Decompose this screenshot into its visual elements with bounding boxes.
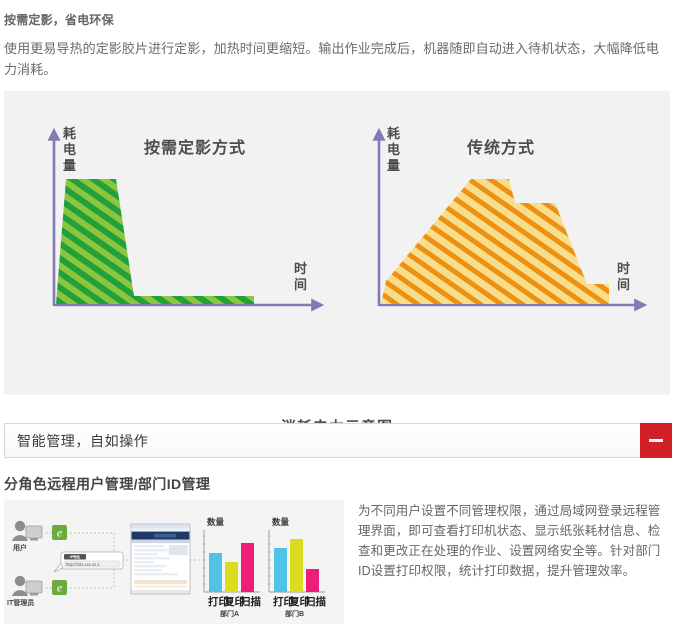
- collapsible-section-bar[interactable]: 智能管理，自如操作: [4, 423, 672, 458]
- dept-a-cat-scan: 扫描: [240, 595, 261, 608]
- svg-text:耗: 耗: [63, 126, 76, 141]
- intro-title: 按需定影，省电环保: [4, 12, 668, 28]
- svg-text:时: 时: [617, 261, 630, 276]
- illustration-svg: 用户 e IT管理员 e: [4, 500, 344, 624]
- minus-icon: [649, 439, 663, 442]
- remote-ui-window: [131, 524, 190, 594]
- dept-b-bar-print: [274, 548, 287, 592]
- dept-a-label: 部门A: [220, 609, 239, 618]
- user-label: 用户: [13, 543, 27, 552]
- svg-text:电: 电: [387, 142, 400, 157]
- svg-text:e: e: [57, 526, 63, 540]
- url-tag: IP地址: [70, 554, 81, 559]
- svg-text:间: 间: [294, 277, 307, 292]
- dept-b-cat-scan: 扫描: [305, 595, 326, 608]
- subsection-content-row: 用户 e IT管理员 e: [4, 500, 672, 624]
- admin-monitor-icon: [26, 581, 42, 596]
- subsection-title: 分角色远程用户管理/部门ID管理: [4, 474, 210, 494]
- svg-text:电: 电: [63, 142, 76, 157]
- chart-traditional-xlabel: 时 间: [617, 261, 630, 292]
- chart-ondemand-xlabel: 时 间: [294, 261, 307, 292]
- chart-traditional: 传统方式 耗 电 量 时 间: [379, 126, 642, 306]
- intro-body: 使用更易导热的定影胶片进行定影，加热时间更缩短。输出作业完成后，机器随即自动进入…: [4, 38, 668, 80]
- chart-ondemand-area: [56, 179, 254, 304]
- svg-text:时: 时: [294, 261, 307, 276]
- dept-b-y-label: 数量: [272, 517, 290, 527]
- chart-traditional-area: [381, 179, 609, 304]
- svg-text:量: 量: [387, 158, 400, 173]
- svg-text:e: e: [57, 581, 63, 595]
- chart-ondemand-title: 按需定影方式: [144, 138, 246, 157]
- user-monitor-icon: [26, 526, 42, 541]
- dept-a-y-label: 数量: [207, 517, 225, 527]
- intro-block: 按需定影，省电环保 使用更易导热的定影胶片进行定影，加热时间更缩短。输出作业完成…: [0, 0, 674, 80]
- dept-a-bar-scan: [241, 543, 254, 592]
- section-collapse-button[interactable]: [640, 423, 672, 458]
- dept-a-bar-print: [209, 553, 222, 592]
- dept-b-bar-copy: [290, 539, 303, 592]
- edge-browser-icon-admin: e: [52, 580, 67, 595]
- power-consumption-charts: 按需定影方式 耗 电 量 时 间 传统方式 耗 电: [4, 91, 670, 411]
- edge-browser-icon: e: [52, 525, 67, 540]
- dept-a-bar-copy: [225, 562, 238, 592]
- power-consumption-chart-panel: 按需定影方式 耗 电 量 时 间 传统方式 耗 电: [4, 91, 670, 395]
- it-admin-label: IT管理员: [7, 598, 34, 607]
- url-text: http://231.xxx.xx.x: [66, 562, 100, 567]
- chart-ondemand: 按需定影方式 耗 电 量 时 间: [54, 126, 319, 306]
- chart-traditional-title: 传统方式: [466, 138, 535, 157]
- svg-text:耗: 耗: [387, 126, 400, 141]
- chart-traditional-ylabel: 耗 电 量: [387, 126, 400, 173]
- section-bar-title: 智能管理，自如操作: [4, 423, 640, 458]
- dept-b-bar-scan: [306, 569, 319, 592]
- remote-management-illustration: 用户 e IT管理员 e: [4, 500, 344, 624]
- svg-text:量: 量: [63, 158, 76, 173]
- chart-ondemand-ylabel: 耗 电 量: [63, 126, 76, 173]
- svg-text:间: 间: [617, 277, 630, 292]
- dept-b-label: 部门B: [285, 609, 304, 618]
- subsection-description: 为不同用户设置不同管理权限，通过局域网登录远程管理界面，即可查看打印机状态、显示…: [358, 500, 672, 624]
- url-callout: IP地址 http://231.xxx.xx.x: [54, 552, 123, 572]
